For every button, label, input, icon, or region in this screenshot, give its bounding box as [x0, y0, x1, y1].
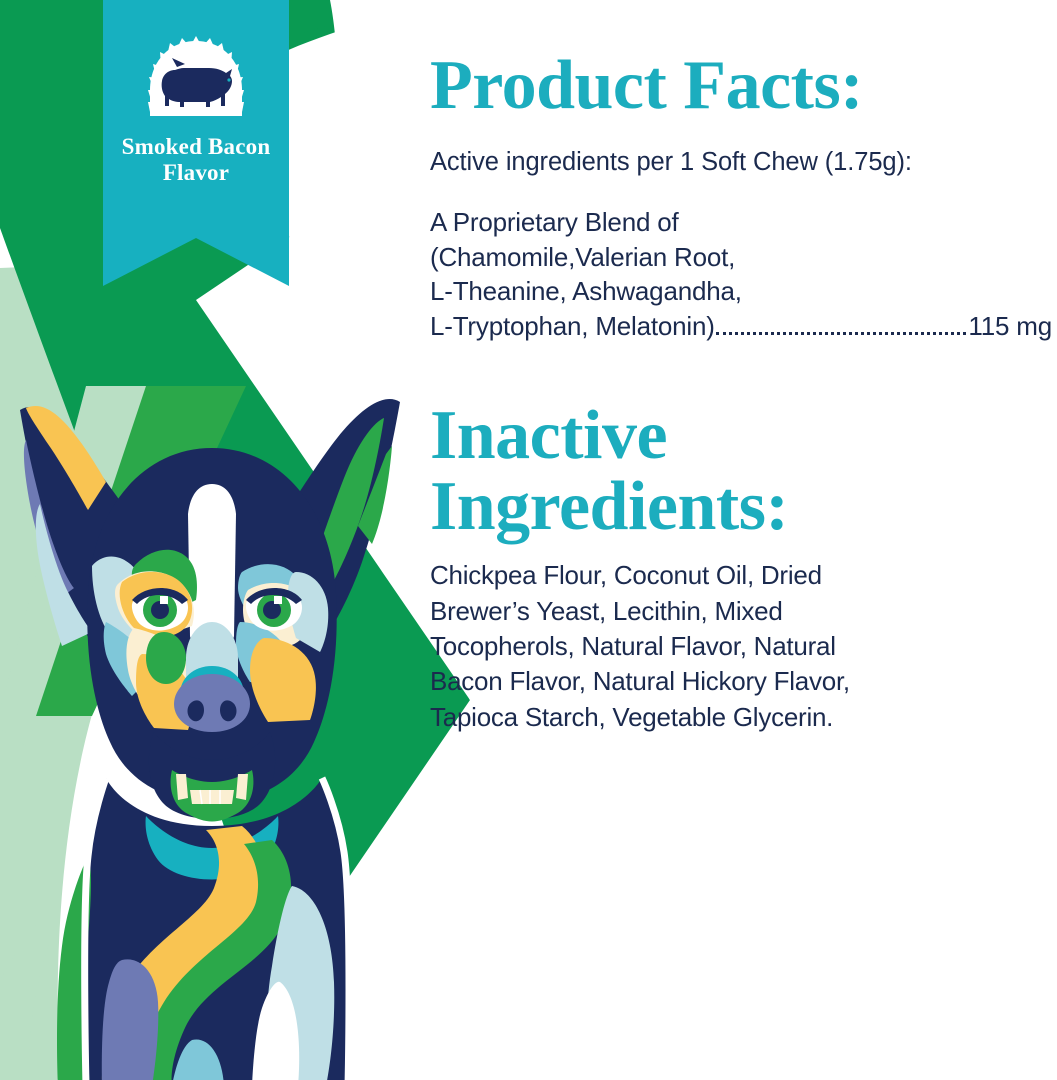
flavor-ribbon-badge: Smoked Bacon Flavor — [103, 0, 289, 286]
dog-right-eye — [246, 588, 302, 631]
inactive-ingredients-list: Chickpea Flour, Coconut Oil, Dried Brewe… — [430, 558, 1052, 735]
active-ingredients-lines: A Proprietary Blend of (Chamomile,Valeri… — [430, 205, 1052, 309]
dog-illustration — [0, 386, 428, 1080]
serving-size-line: Active ingredients per 1 Soft Chew (1.75… — [430, 147, 1052, 178]
active-ingredients-amount-row: L-Tryptophan, Melatonin) 115 mg — [430, 309, 1052, 344]
inactive-ingredients-heading: Inactive Ingredients: — [430, 400, 1052, 543]
product-label: Smoked Bacon Flavor — [0, 0, 1057, 1080]
active-ingredients-last-line: L-Tryptophan, Melatonin) — [430, 309, 715, 344]
dot-leader — [716, 332, 967, 335]
pig-silhouette-badge-icon — [144, 36, 248, 124]
dog-nose — [174, 674, 250, 732]
facts-column: Product Facts: Active ingredients per 1 … — [430, 52, 1052, 735]
active-ingredients-amount: 115 mg — [968, 309, 1052, 344]
dog-left-eye — [132, 588, 188, 631]
product-facts-heading: Product Facts: — [430, 52, 1052, 121]
dog-left-mint-flank — [0, 920, 58, 1080]
active-ingredients-block: A Proprietary Blend of (Chamomile,Valeri… — [430, 205, 1052, 343]
flavor-ribbon-label: Smoked Bacon Flavor — [103, 134, 289, 186]
